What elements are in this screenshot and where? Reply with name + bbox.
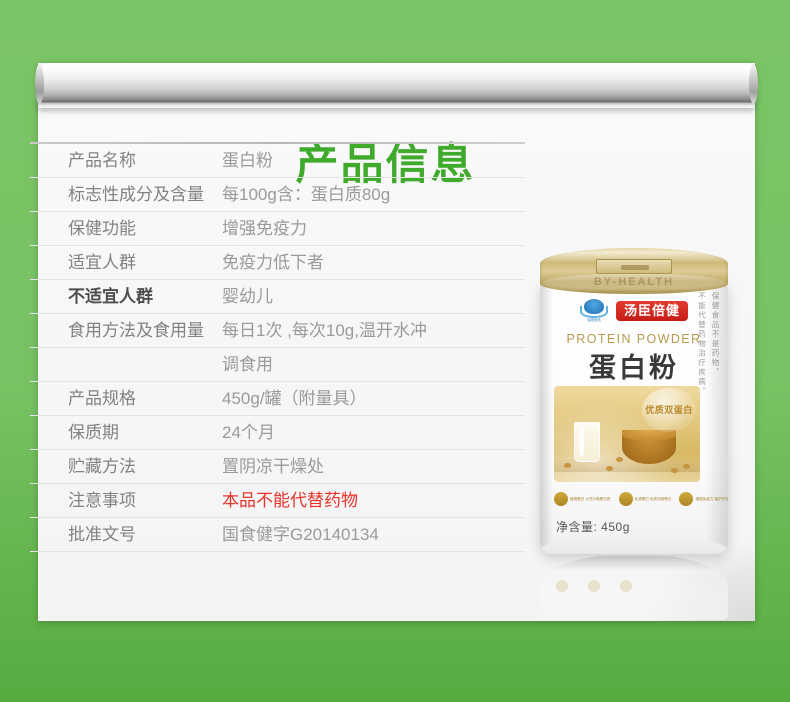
soybean-icon xyxy=(564,463,571,468)
table-row: 产品名称 蛋白粉 xyxy=(30,144,525,178)
spec-label: 不适宜人群 xyxy=(30,283,222,310)
feature-item: 植物蛋白 大豆分离蛋白质 xyxy=(554,492,611,506)
table-row: 产品规格 450g/罐（附量具） xyxy=(30,382,525,416)
can-lid-tab xyxy=(596,259,672,274)
premium-protein-label: 优质双蛋白 xyxy=(645,405,693,415)
spec-label: 标志性成分及含量 xyxy=(30,181,222,208)
spec-label: 保质期 xyxy=(30,419,222,446)
product-spec-table: 产品名称 蛋白粉 标志性成分及含量 每100g含：蛋白质80g 保健功能 增强免… xyxy=(30,142,525,552)
warning-line-2: 不能代替药物治疗疾病。 xyxy=(698,292,706,482)
table-row: 适宜人群 免疫力低下者 xyxy=(30,246,525,280)
soybean-bowl-icon xyxy=(622,430,676,464)
table-row: 贮藏方法 置阴凉干燥处 xyxy=(30,450,525,484)
spec-value: 国食健字G20140134 xyxy=(222,521,525,548)
table-row: 标志性成分及含量 每100g含：蛋白质80g xyxy=(30,178,525,212)
spec-label: 贮藏方法 xyxy=(30,453,222,480)
spec-value: 增强免疫力 xyxy=(222,215,525,242)
feature-label: 乳清蛋白 优质动物蛋白 xyxy=(635,497,672,502)
feature-item: 乳清蛋白 优质动物蛋白 xyxy=(619,492,672,506)
milk-glass-icon xyxy=(574,422,600,462)
can-photo-panel: 优质双蛋白 xyxy=(554,386,700,482)
can-warning-vertical-text: 保健食品不是药物， 不能代替药物治疗疾病。 xyxy=(698,292,719,482)
spec-value: 450g/罐（附量具） xyxy=(222,385,525,412)
can-bottom-rim xyxy=(540,538,728,554)
table-row: 批准文号 国食健字G20140134 xyxy=(30,518,525,552)
spec-value: 调食用 xyxy=(222,351,525,378)
health-emblem-label: 保健食品 xyxy=(580,317,608,322)
spec-label: 批准文号 xyxy=(30,521,222,548)
feature-label: 增强免疫力 保护作用 xyxy=(695,497,728,502)
soybean-icon xyxy=(616,457,623,462)
spec-label: 食用方法及食用量 xyxy=(30,317,222,344)
reflection-rim xyxy=(540,556,728,572)
spec-label: 适宜人群 xyxy=(30,249,222,276)
product-can-image: BY-HEALTH 保健食品 汤臣倍健 PROTEIN POWDER 蛋白粉 xyxy=(534,248,750,638)
spec-label: 注意事项 xyxy=(30,487,222,514)
spec-value: 每日1次 ,每次10g,温开水冲 xyxy=(222,317,525,344)
protein-powder-can: BY-HEALTH 保健食品 汤臣倍健 PROTEIN POWDER 蛋白粉 xyxy=(540,248,728,566)
can-reflection xyxy=(540,554,728,620)
leaf-icon xyxy=(554,492,568,506)
feature-item: 增强免疫力 保护作用 xyxy=(679,492,728,506)
brand-badge: 汤臣倍健 xyxy=(616,301,688,321)
feature-label: 植物蛋白 大豆分离蛋白质 xyxy=(570,497,611,502)
shield-icon xyxy=(679,492,693,506)
health-food-emblem-icon: 保健食品 xyxy=(580,298,608,324)
premium-protein-emblem: 优质双蛋白 xyxy=(642,388,696,432)
net-weight-label: 净含量: 450g xyxy=(556,518,630,535)
table-row: 保健功能 增强免疫力 xyxy=(30,212,525,246)
table-row: 注意事项 本品不能代替药物 xyxy=(30,484,525,518)
spec-value: 每100g含：蛋白质80g xyxy=(222,181,525,208)
soybean-icon xyxy=(683,464,690,469)
paper-roll-top xyxy=(38,63,755,108)
spec-value: 24个月 xyxy=(222,419,525,446)
spec-value-warning: 本品不能代替药物 xyxy=(222,487,525,514)
can-feature-badges: 植物蛋白 大豆分离蛋白质 乳清蛋白 优质动物蛋白 增强免疫力 保护作用 xyxy=(554,492,706,506)
can-lid-brand-text: BY-HEALTH xyxy=(540,276,728,288)
spec-label xyxy=(30,351,222,352)
spec-value: 置阴凉干燥处 xyxy=(222,453,525,480)
spec-value: 免疫力低下者 xyxy=(222,249,525,276)
milk-icon xyxy=(619,492,633,506)
warning-line-1: 保健食品不是药物， xyxy=(712,292,720,482)
table-row: 食用方法及食用量 每日1次 ,每次10g,温开水冲 xyxy=(30,314,525,348)
spec-label: 产品规格 xyxy=(30,385,222,412)
spec-value: 婴幼儿 xyxy=(222,283,525,310)
spec-label: 产品名称 xyxy=(30,147,222,174)
spec-label: 保健功能 xyxy=(30,215,222,242)
reflection-badges xyxy=(556,580,706,592)
table-row: 不适宜人群 婴幼儿 xyxy=(30,280,525,314)
page-background: 产品信息 产品名称 蛋白粉 标志性成分及含量 每100g含：蛋白质80g 保健功… xyxy=(0,0,790,702)
table-row: 保质期 24个月 xyxy=(30,416,525,450)
soybean-icon xyxy=(671,468,678,473)
spec-value: 蛋白粉 xyxy=(222,147,525,174)
table-row-continuation: 调食用 xyxy=(30,348,525,382)
soybean-icon xyxy=(606,466,613,471)
